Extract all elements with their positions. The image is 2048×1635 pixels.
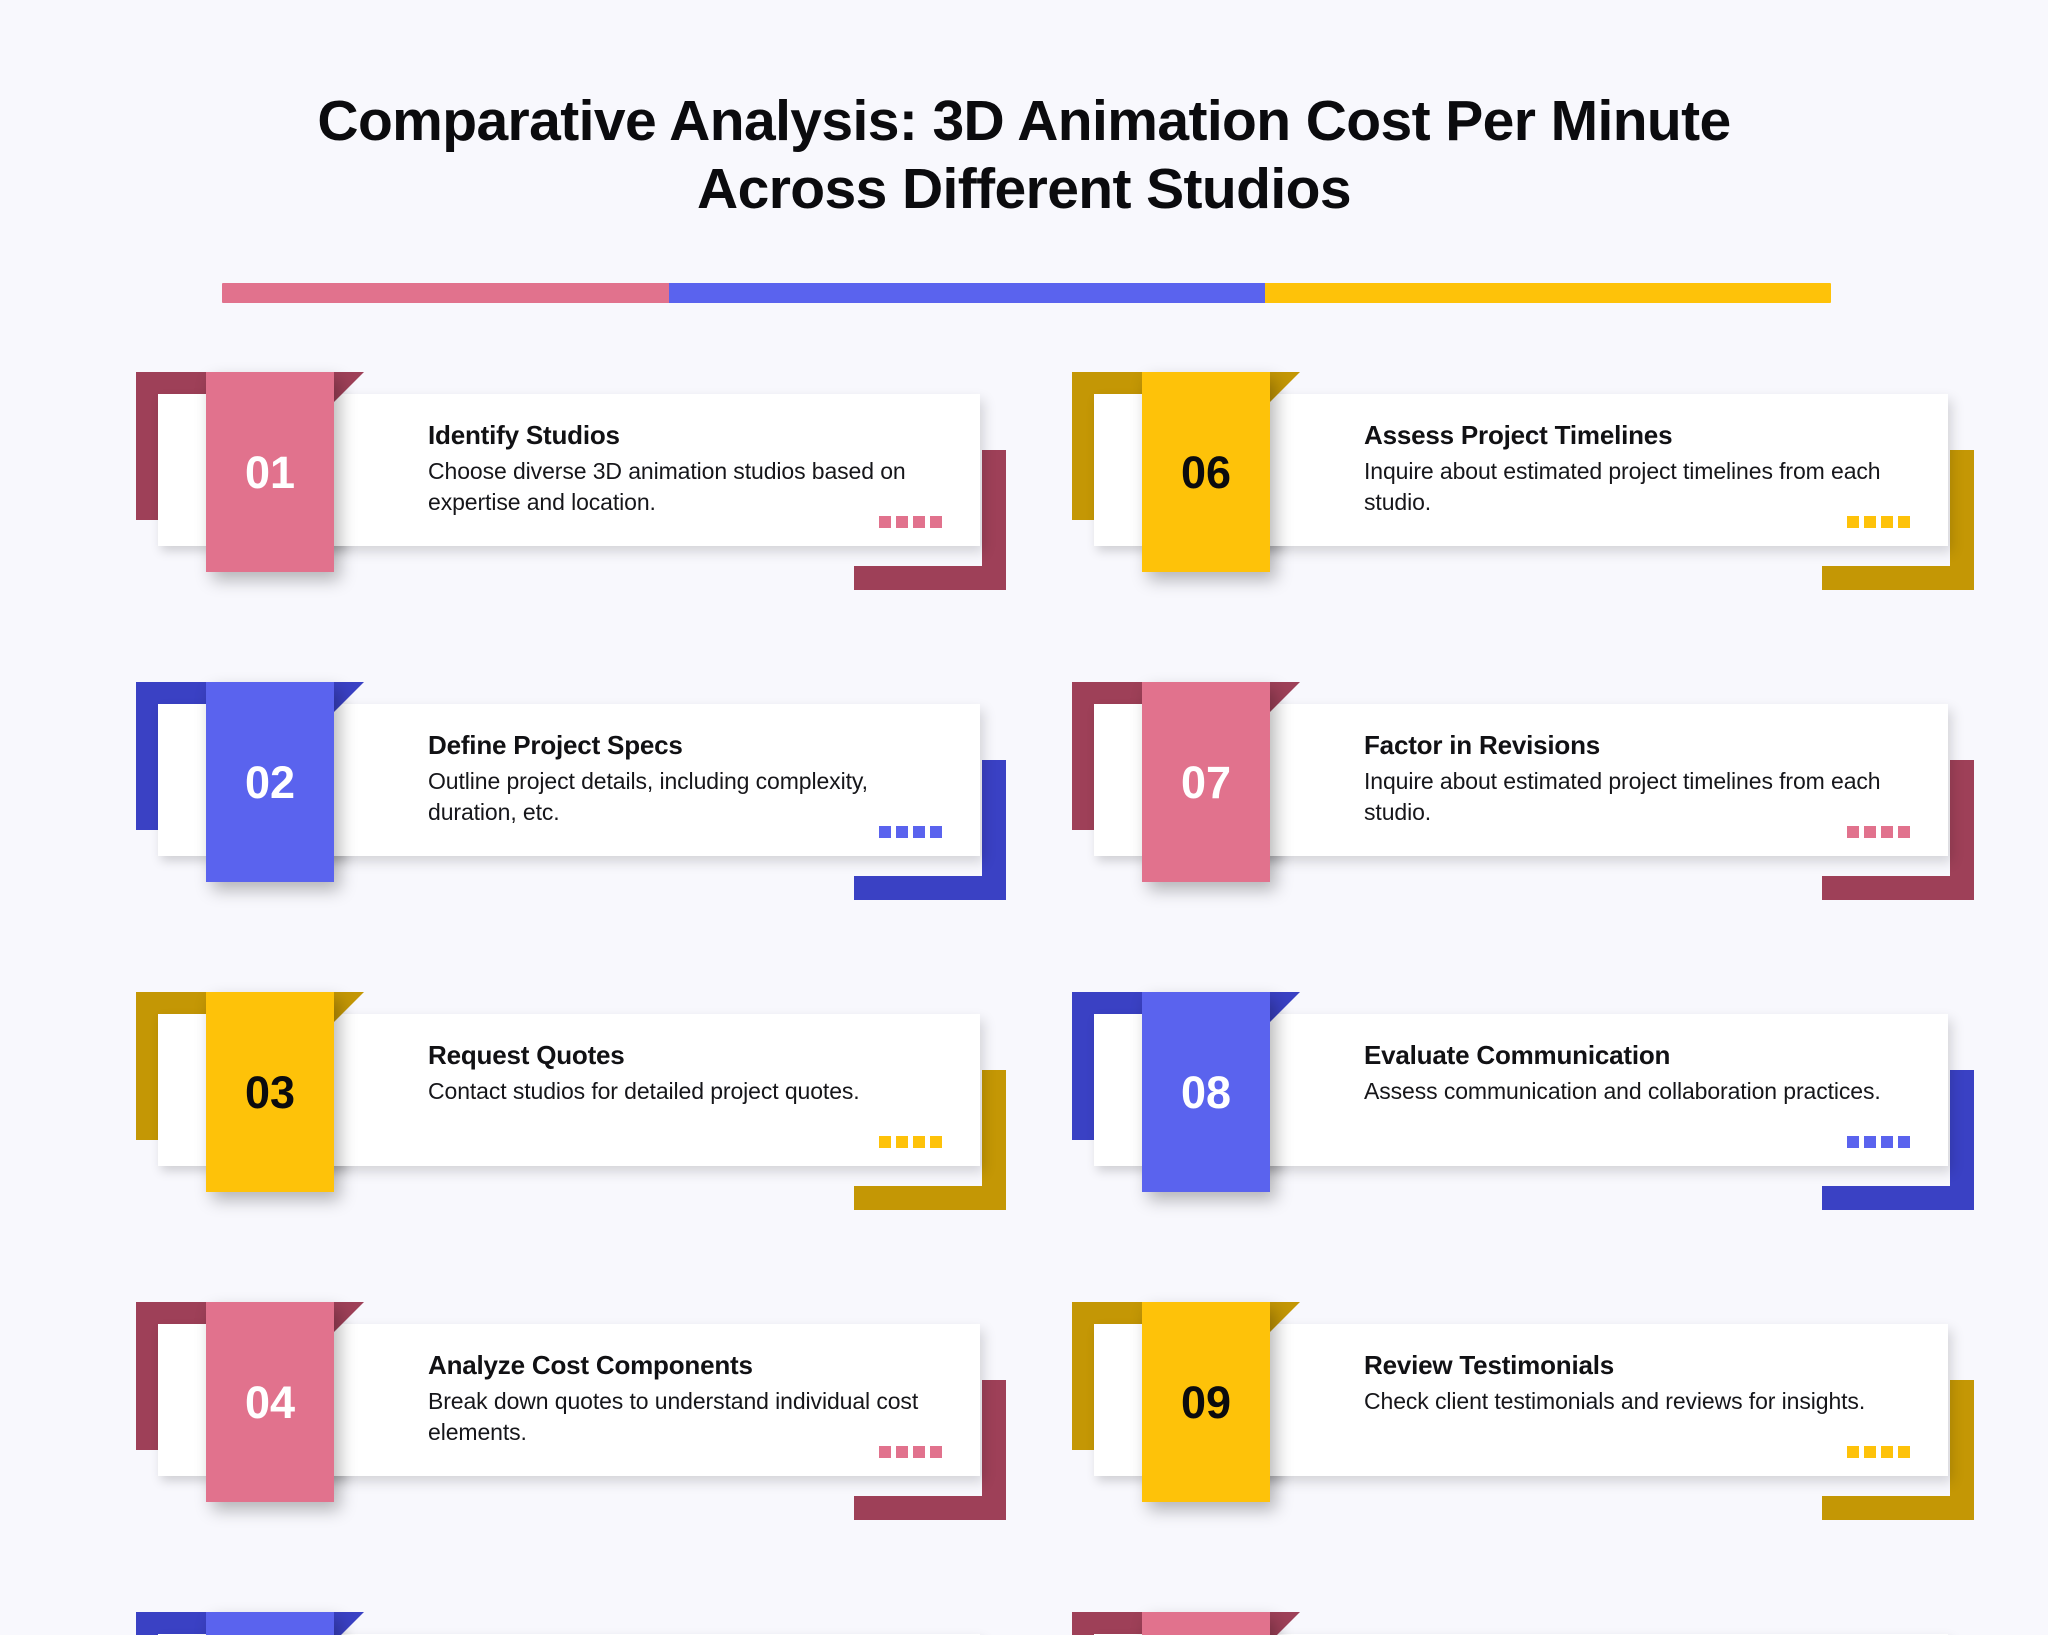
step-number-tab[interactable]: 03 (206, 992, 334, 1192)
step-number-tab[interactable]: 01 (206, 372, 334, 572)
dot-square-icon (1881, 1136, 1893, 1148)
dot-square-icon (879, 516, 891, 528)
dot-square-icon (913, 1446, 925, 1458)
step-title: Factor in Revisions (1364, 730, 1908, 761)
step-description: Assess communication and collaboration p… (1364, 1076, 1908, 1107)
step-number: 02 (245, 760, 295, 805)
dot-square-icon (1864, 826, 1876, 838)
step-title: Review Testimonials (1364, 1350, 1908, 1381)
dot-square-icon (1847, 516, 1859, 528)
step-number: 01 (245, 450, 295, 495)
step-title: Analyze Cost Components (428, 1350, 940, 1381)
dot-square-icon (930, 1446, 942, 1458)
tab-fold-triangle-icon (334, 372, 364, 402)
step-number-tab[interactable]: 10 (1142, 1612, 1270, 1635)
card-panel: Assess Project TimelinesInquire about es… (1224, 394, 1948, 546)
dots-indicator-icon (1847, 1136, 1910, 1148)
dots-indicator-icon (879, 1136, 942, 1148)
step-number-tab[interactable]: 09 (1142, 1302, 1270, 1502)
dots-indicator-icon (1847, 826, 1910, 838)
card-panel: Evaluate CommunicationAssess communicati… (1224, 1014, 1948, 1166)
divider-segment-pink (222, 283, 669, 303)
step-number: 07 (1181, 760, 1231, 805)
dot-square-icon (1847, 826, 1859, 838)
dot-square-icon (879, 826, 891, 838)
tab-fold-triangle-icon (1270, 372, 1300, 402)
steps-column-left: Identify StudiosChoose diverse 3D animat… (136, 372, 1006, 1635)
dot-square-icon (913, 1136, 925, 1148)
step-number: 08 (1181, 1070, 1231, 1115)
tab-fold-triangle-icon (1270, 682, 1300, 712)
step-number: 09 (1181, 1380, 1231, 1425)
step-card-03[interactable]: Request QuotesContact studios for detail… (136, 992, 1006, 1192)
dot-square-icon (896, 516, 908, 528)
card-panel: Analyze Cost ComponentsBreak down quotes… (288, 1324, 980, 1476)
tab-fold-triangle-icon (1270, 1302, 1300, 1332)
dot-square-icon (896, 1136, 908, 1148)
tab-fold-triangle-icon (334, 1612, 364, 1635)
card-panel: Request QuotesContact studios for detail… (288, 1014, 980, 1166)
step-description: Inquire about estimated project timeline… (1364, 456, 1908, 517)
step-title: Define Project Specs (428, 730, 940, 761)
dot-square-icon (930, 516, 942, 528)
tab-fold-triangle-icon (1270, 992, 1300, 1022)
dot-square-icon (1864, 1446, 1876, 1458)
step-title: Assess Project Timelines (1364, 420, 1908, 451)
step-description: Contact studios for detailed project quo… (428, 1076, 940, 1107)
step-title: Request Quotes (428, 1040, 940, 1071)
step-card-05[interactable]: Consider Quality MetricsEvaluate portfol… (136, 1612, 1006, 1635)
step-card-01[interactable]: Identify StudiosChoose diverse 3D animat… (136, 372, 1006, 572)
step-card-02[interactable]: Define Project SpecsOutline project deta… (136, 682, 1006, 882)
dot-square-icon (1898, 826, 1910, 838)
dot-square-icon (1881, 516, 1893, 528)
tab-fold-triangle-icon (334, 1302, 364, 1332)
step-card-09[interactable]: Review TestimonialsCheck client testimon… (1072, 1302, 1974, 1502)
step-card-07[interactable]: Factor in RevisionsInquire about estimat… (1072, 682, 1974, 882)
step-number-tab[interactable]: 05 (206, 1612, 334, 1635)
page-title: Comparative Analysis: 3D Animation Cost … (0, 88, 2048, 224)
step-number-tab[interactable]: 02 (206, 682, 334, 882)
step-card-08[interactable]: Evaluate CommunicationAssess communicati… (1072, 992, 1974, 1192)
step-number-tab[interactable]: 08 (1142, 992, 1270, 1192)
step-card-04[interactable]: Analyze Cost ComponentsBreak down quotes… (136, 1302, 1006, 1502)
card-panel: Define Project SpecsOutline project deta… (288, 704, 980, 856)
dot-square-icon (896, 826, 908, 838)
card-panel: Review TestimonialsCheck client testimon… (1224, 1324, 1948, 1476)
step-number: 04 (245, 1380, 295, 1425)
dot-square-icon (930, 826, 942, 838)
dot-square-icon (1898, 1446, 1910, 1458)
dot-square-icon (930, 1136, 942, 1148)
dots-indicator-icon (1847, 1446, 1910, 1458)
dots-indicator-icon (1847, 516, 1910, 528)
step-title: Evaluate Communication (1364, 1040, 1908, 1071)
dot-square-icon (1864, 1136, 1876, 1148)
step-card-10[interactable]: Make a Comparative DecisionCompare all f… (1072, 1612, 1974, 1635)
divider-segment-yellow (1265, 283, 1831, 303)
divider-bar (222, 283, 1831, 303)
dots-indicator-icon (879, 516, 942, 528)
step-description: Choose diverse 3D animation studios base… (428, 456, 940, 517)
dot-square-icon (1898, 516, 1910, 528)
steps-column-right: Assess Project TimelinesInquire about es… (1072, 372, 1974, 1635)
infographic-page: Comparative Analysis: 3D Animation Cost … (0, 0, 2048, 1635)
step-number: 06 (1181, 450, 1231, 495)
header: Comparative Analysis: 3D Animation Cost … (0, 88, 2048, 224)
tab-fold-triangle-icon (1270, 1612, 1300, 1635)
dot-square-icon (1881, 826, 1893, 838)
step-description: Inquire about estimated project timeline… (1364, 766, 1908, 827)
dot-square-icon (879, 1136, 891, 1148)
dot-square-icon (879, 1446, 891, 1458)
step-description: Outline project details, including compl… (428, 766, 940, 827)
dot-square-icon (913, 826, 925, 838)
dot-square-icon (896, 1446, 908, 1458)
divider-segment-blue (669, 283, 1264, 303)
dot-square-icon (1847, 1136, 1859, 1148)
step-number-tab[interactable]: 07 (1142, 682, 1270, 882)
dot-square-icon (1898, 1136, 1910, 1148)
card-panel: Identify StudiosChoose diverse 3D animat… (288, 394, 980, 546)
card-panel: Factor in RevisionsInquire about estimat… (1224, 704, 1948, 856)
dot-square-icon (1847, 1446, 1859, 1458)
step-number: 03 (245, 1070, 295, 1115)
step-card-06[interactable]: Assess Project TimelinesInquire about es… (1072, 372, 1974, 572)
tab-fold-triangle-icon (334, 682, 364, 712)
dots-indicator-icon (879, 826, 942, 838)
step-number-tab[interactable]: 06 (1142, 372, 1270, 572)
step-number-tab[interactable]: 04 (206, 1302, 334, 1502)
dot-square-icon (913, 516, 925, 528)
tab-fold-triangle-icon (334, 992, 364, 1022)
dots-indicator-icon (879, 1446, 942, 1458)
step-description: Break down quotes to understand individu… (428, 1386, 940, 1447)
dot-square-icon (1881, 1446, 1893, 1458)
dot-square-icon (1864, 516, 1876, 528)
step-title: Identify Studios (428, 420, 940, 451)
step-description: Check client testimonials and reviews fo… (1364, 1386, 1908, 1417)
